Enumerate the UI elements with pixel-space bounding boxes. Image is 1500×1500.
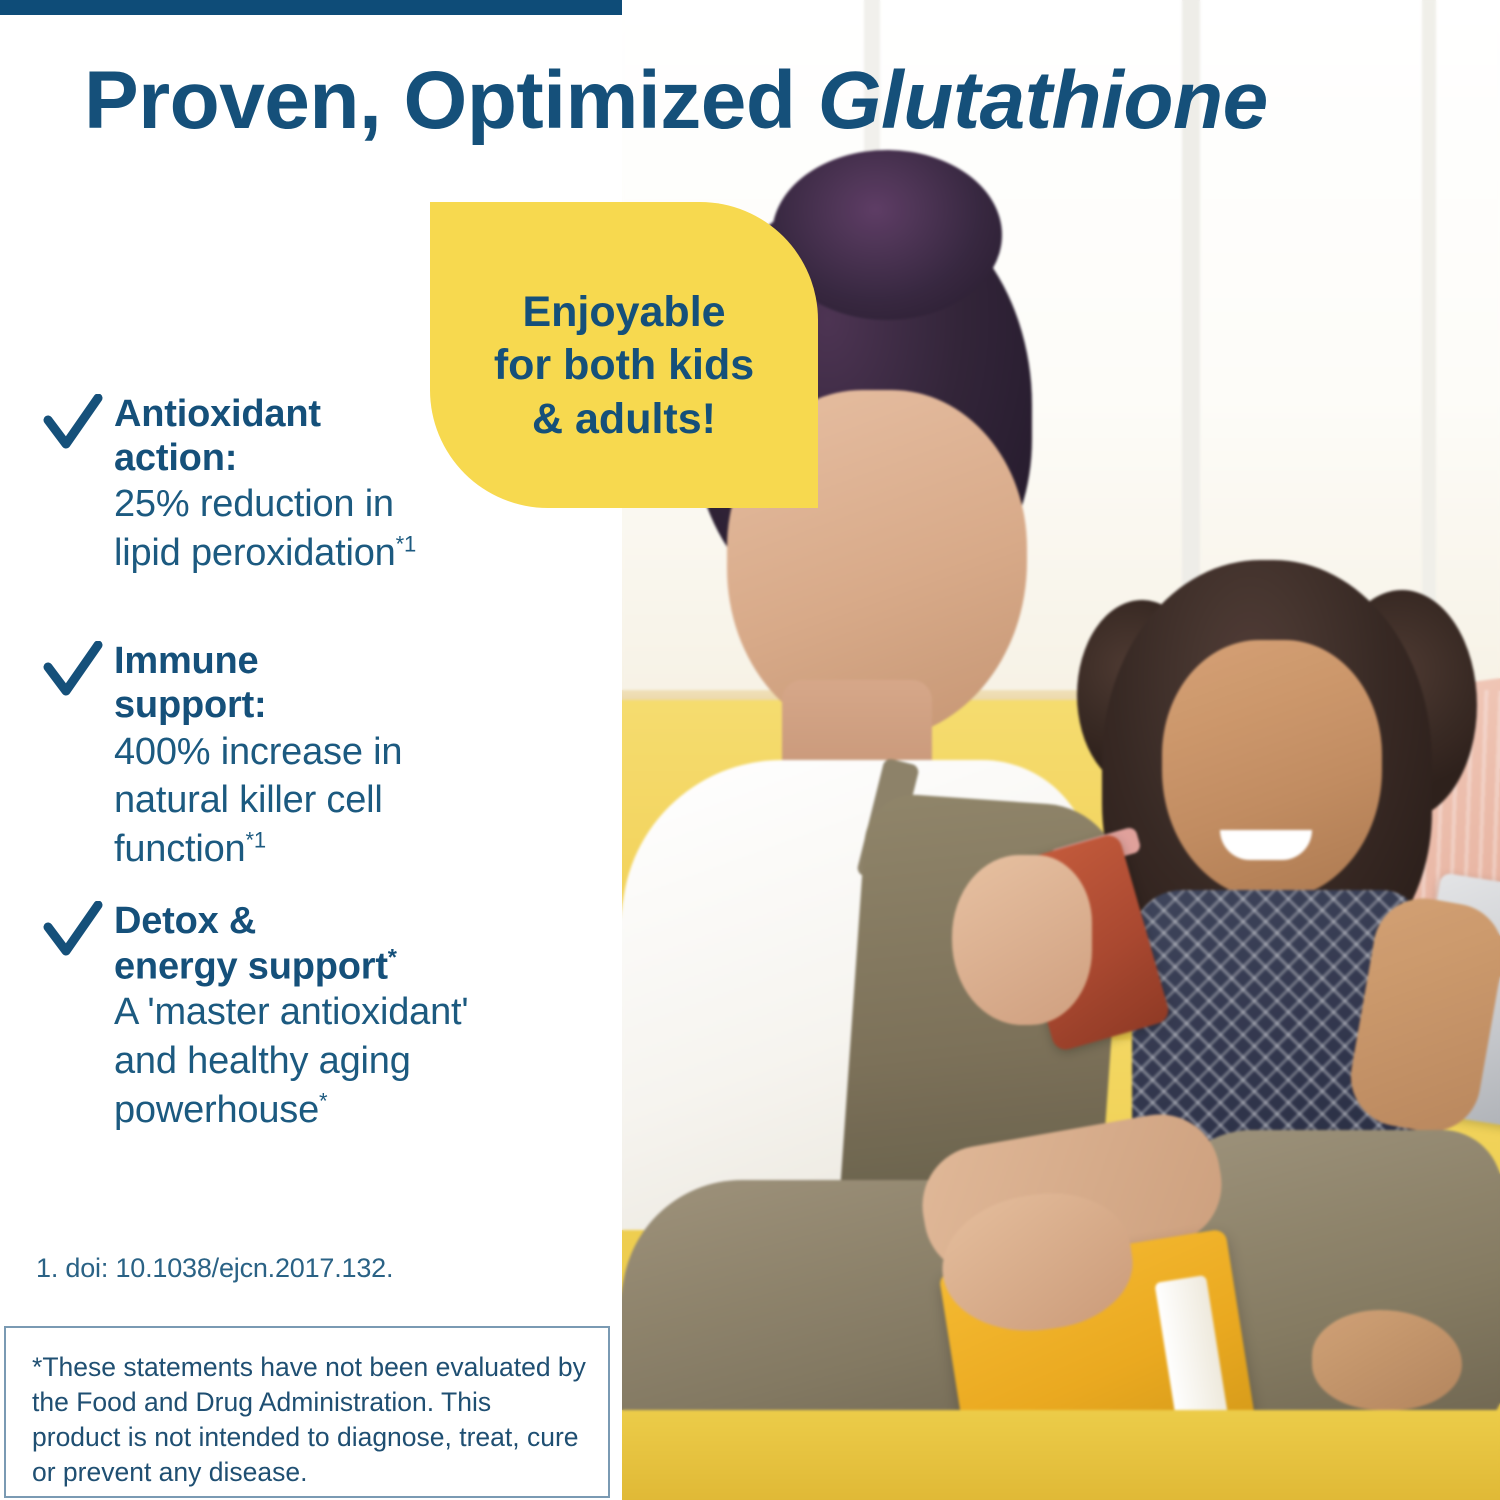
- benefit-heading-text: Antioxidant action:: [114, 393, 321, 479]
- benefit-body-superscript: *: [319, 1088, 327, 1113]
- benefit-body: 25% reduction in lipid peroxidation*1: [114, 480, 622, 577]
- checkmark-icon: [42, 901, 104, 963]
- benefit-heading: Immune support:: [114, 639, 622, 727]
- benefit-heading: Antioxidant action:: [114, 392, 622, 480]
- benefits-list: Antioxidant action: 25% reduction in lip…: [42, 392, 622, 1134]
- checkmark-icon: [42, 641, 104, 703]
- benefit-item-antioxidant: Antioxidant action: 25% reduction in lip…: [42, 392, 622, 577]
- benefit-heading: Detox & energy support*: [114, 899, 622, 988]
- benefit-body-superscript: *1: [246, 827, 266, 852]
- benefit-heading-text: Detox & energy support: [114, 900, 388, 987]
- benefit-heading-superscript: *: [388, 944, 397, 970]
- page-title: Proven, Optimized Glutathione: [84, 58, 1444, 144]
- benefit-body-superscript: *1: [396, 531, 416, 556]
- benefit-item-immune: Immune support: 400% increase in natural…: [42, 639, 622, 873]
- fda-disclaimer-box: *These statements have not been evaluate…: [4, 1326, 610, 1498]
- benefit-body-text: A 'master antioxidant' and healthy aging…: [114, 991, 468, 1130]
- benefit-body: A 'master antioxidant' and healthy aging…: [114, 988, 622, 1134]
- benefit-heading-text: Immune support:: [114, 640, 266, 726]
- citation-reference: 1. doi: 10.1038/ejcn.2017.132.: [36, 1253, 393, 1284]
- page-title-plain: Proven, Optimized: [84, 55, 818, 146]
- benefit-item-detox: Detox & energy support* A 'master antiox…: [42, 899, 622, 1134]
- checkmark-icon: [42, 394, 104, 456]
- benefit-body-text: 25% reduction in lipid peroxidation: [114, 483, 396, 574]
- benefit-body: 400% increase in natural killer cell fun…: [114, 728, 622, 874]
- infographic-page: Proven, Optimized Glutathione Enjoyable …: [0, 0, 1500, 1500]
- page-title-emphasis: Glutathione: [818, 55, 1268, 146]
- fda-disclaimer-text: *These statements have not been evaluate…: [32, 1350, 586, 1490]
